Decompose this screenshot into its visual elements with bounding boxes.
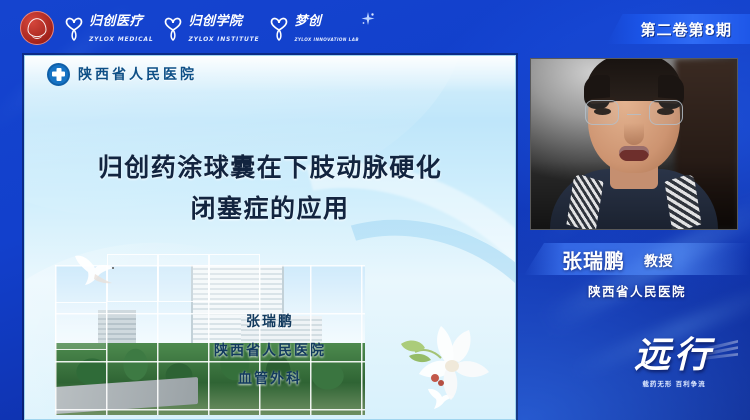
mosaic-tile xyxy=(107,254,158,302)
sponsor-logo-group: 归创医疗 ZYLOX MEDICAL 归创学院 ZYLOX INSTITUTE xyxy=(20,11,375,45)
slide-title: 归创药涂球囊在下肢动脉硬化 闭塞症的应用 xyxy=(25,148,515,229)
presenter-department: 血管外科 xyxy=(25,365,515,394)
issue-badge: 第二卷第8期 xyxy=(607,14,750,44)
top-bar: 归创医疗 ZYLOX MEDICAL 归创学院 ZYLOX INSTITUTE xyxy=(0,0,750,55)
speaker-collar xyxy=(664,173,701,230)
video-background xyxy=(531,59,737,229)
speaker-video-feed[interactable] xyxy=(530,58,738,230)
medical-cross-icon xyxy=(47,63,70,86)
glasses-lens-icon xyxy=(649,100,683,125)
brand-name-en: ZYLOX INSTITUTE xyxy=(188,36,259,43)
heart-icon xyxy=(268,14,290,42)
brand-zylox-innovation-lab: 梦创 ZYLOX INNOVATION LAB xyxy=(268,12,375,44)
brand-name-en: ZYLOX INNOVATION LAB xyxy=(294,37,359,42)
heart-icon xyxy=(63,14,85,42)
mosaic-tile xyxy=(158,254,209,302)
sparkle-icon xyxy=(361,12,375,26)
presentation-slide[interactable]: 陕西省人民医院 归创药涂球囊在下肢动脉硬化 闭塞症的应用 张瑞鹏 陕西省人民医院… xyxy=(24,55,516,420)
speaker-portrait xyxy=(544,74,724,229)
speaker-hair xyxy=(586,58,682,101)
brand-name-cn: 归创医疗 xyxy=(89,14,143,29)
speaker-nameplate: 张瑞鹏 教授 陕西省人民医院 xyxy=(524,243,750,311)
heart-icon xyxy=(162,14,184,42)
issue-label: 第二卷第8期 xyxy=(641,19,732,40)
nameplate-bar xyxy=(524,243,750,275)
brand-zylox-institute: 归创学院 ZYLOX INSTITUTE xyxy=(162,12,259,44)
broadcast-screen: 归创医疗 ZYLOX MEDICAL 归创学院 ZYLOX INSTITUTE xyxy=(0,0,750,420)
slide-title-line-2: 闭塞症的应用 xyxy=(53,189,487,230)
brand-zylox-medical: 归创医疗 ZYLOX MEDICAL xyxy=(63,12,153,44)
slide-presenter-block: 张瑞鹏 陕西省人民医院 血管外科 xyxy=(25,308,515,394)
mosaic-tile xyxy=(209,254,260,302)
lotus-seal-icon xyxy=(20,11,54,45)
speaker-nose xyxy=(624,123,644,145)
brand-name-en: ZYLOX MEDICAL xyxy=(89,36,153,43)
glasses-lens-icon xyxy=(585,100,619,125)
program-logo-subtitle: 载药无形 百利争流 xyxy=(614,378,734,388)
brand-name-cn: 梦创 xyxy=(294,14,321,29)
presenter-name: 张瑞鹏 xyxy=(25,308,515,337)
speaker-name: 张瑞鹏 xyxy=(562,245,625,274)
speaker-mouth xyxy=(619,146,649,161)
presenter-hospital: 陕西省人民医院 xyxy=(25,337,515,366)
slide-title-line-1: 归创药涂球囊在下肢动脉硬化 xyxy=(53,148,487,189)
brand-name-cn: 归创学院 xyxy=(188,14,242,29)
speaker-affiliation: 陕西省人民医院 xyxy=(524,281,750,300)
speaker-title: 教授 xyxy=(644,251,673,271)
glasses-bridge xyxy=(627,114,641,115)
program-logo: 远行 载药无形 百利争流 xyxy=(614,338,734,410)
slide-hospital-header: 陕西省人民医院 xyxy=(25,56,515,92)
hospital-name: 陕西省人民医院 xyxy=(78,64,197,84)
